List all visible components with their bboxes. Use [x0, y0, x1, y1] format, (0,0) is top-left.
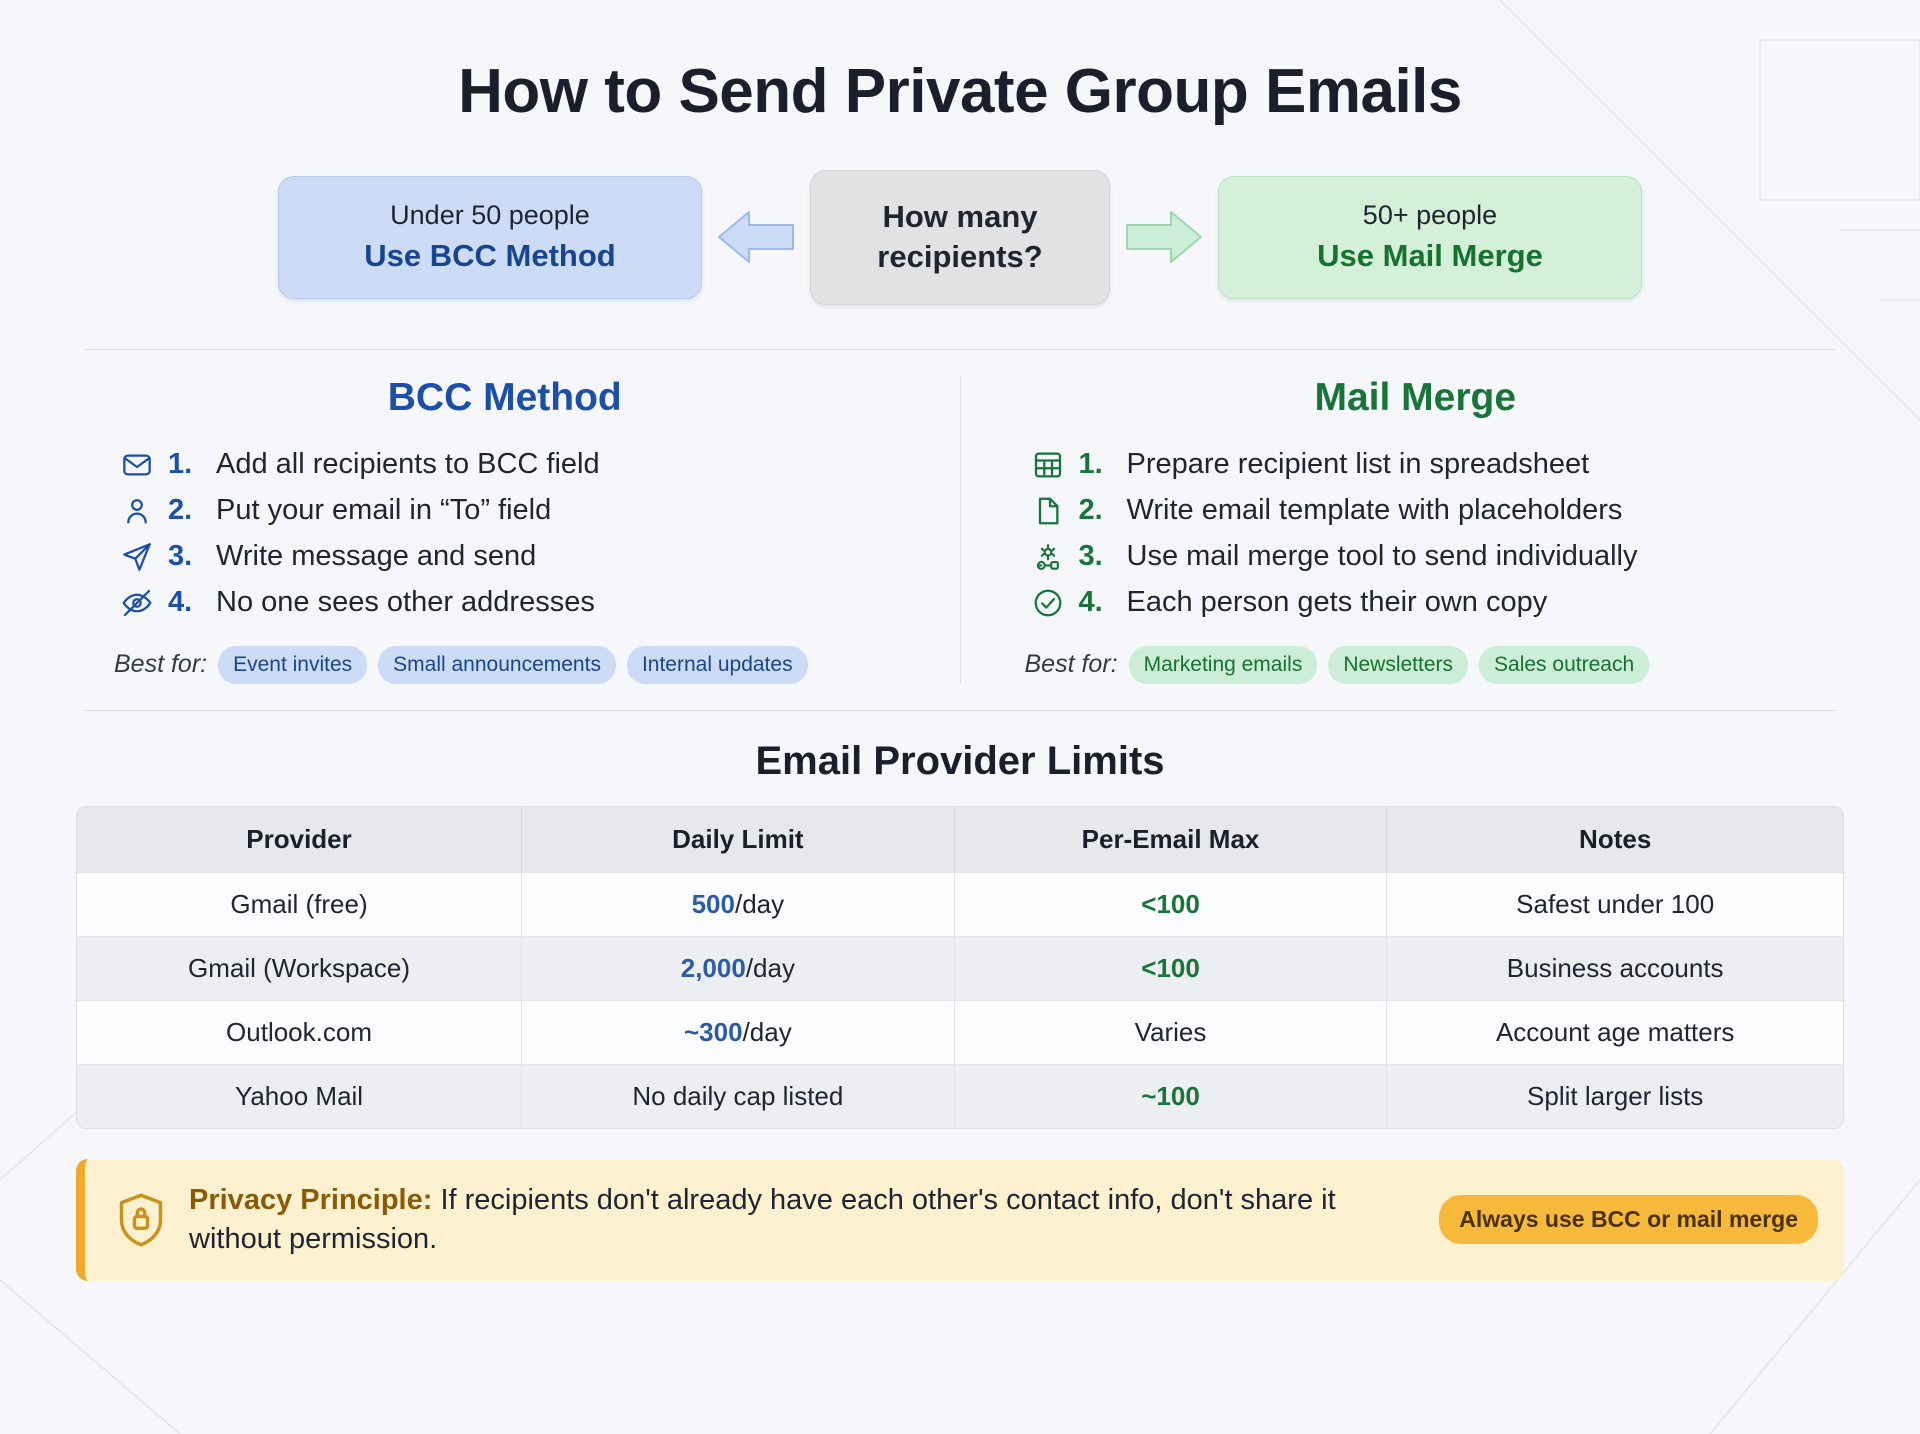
- cell-per-email-max: ~100: [955, 1064, 1388, 1128]
- cell-notes: Account age matters: [1387, 1000, 1843, 1064]
- decision-box-mailmerge[interactable]: 50+ people Use Mail Merge: [1218, 176, 1642, 299]
- method-title-mailmerge: Mail Merge: [997, 376, 1835, 420]
- shield-lock-icon: [115, 1191, 167, 1249]
- cell-daily-limit: No daily cap listed: [522, 1064, 955, 1128]
- table-title: Email Provider Limits: [76, 739, 1844, 784]
- methods-section: BCC Method 1. Add all recipients to BCC …: [76, 376, 1844, 684]
- send-icon: [120, 540, 154, 574]
- document-icon: [1031, 494, 1065, 528]
- method-title-bcc: BCC Method: [86, 376, 924, 420]
- cell-per-email-max: Varies: [955, 1000, 1388, 1064]
- bestfor-chip[interactable]: Small announcements: [378, 646, 616, 684]
- method-column-bcc: BCC Method 1. Add all recipients to BCC …: [76, 376, 960, 684]
- column-header-per-email-max: Per-Email Max: [955, 807, 1388, 872]
- decision-flow: Under 50 people Use BCC Method How many …: [76, 170, 1844, 305]
- bestfor-chip[interactable]: Marketing emails: [1129, 646, 1318, 684]
- eye-off-icon: [120, 586, 154, 620]
- step-item: 2. Put your email in “To” field: [120, 488, 924, 534]
- per-email-max-value: ~100: [1141, 1081, 1200, 1111]
- cell-provider: Outlook.com: [77, 1000, 522, 1064]
- step-text: No one sees other addresses: [216, 586, 595, 619]
- bestfor-chip[interactable]: Internal updates: [627, 646, 808, 684]
- step-text: Write email template with placeholders: [1127, 494, 1623, 527]
- decision-bcc-action: Use BCC Method: [307, 237, 673, 276]
- bestfor-chip[interactable]: Sales outreach: [1479, 646, 1649, 684]
- step-item: 1. Prepare recipient list in spreadsheet: [1031, 442, 1835, 488]
- step-item: 2. Write email template with placeholder…: [1031, 488, 1835, 534]
- arrow-right-icon: [1110, 206, 1218, 268]
- step-text: Each person gets their own copy: [1127, 586, 1548, 619]
- provider-limits-table: Provider Daily Limit Per-Email Max Notes…: [76, 806, 1844, 1129]
- steps-list-mailmerge: 1. Prepare recipient list in spreadsheet…: [997, 442, 1835, 626]
- daily-limit-value: ~300: [684, 1017, 743, 1047]
- decision-bcc-condition: Under 50 people: [307, 199, 673, 233]
- table-row: Yahoo Mail No daily cap listed ~100 Spli…: [77, 1064, 1843, 1128]
- daily-limit-value: No daily cap listed: [632, 1081, 843, 1111]
- arrow-left-icon: [702, 206, 810, 268]
- per-email-max-value: <100: [1141, 953, 1200, 983]
- decision-question-line1: How many: [831, 197, 1089, 237]
- table-row: Gmail (Workspace) 2,000/day <100 Busines…: [77, 936, 1843, 1000]
- cell-provider: Gmail (free): [77, 872, 522, 936]
- steps-list-bcc: 1. Add all recipients to BCC field 2. Pu…: [86, 442, 924, 626]
- step-number: 3.: [1079, 540, 1113, 573]
- step-number: 1.: [1079, 448, 1113, 481]
- person-icon: [120, 494, 154, 528]
- bestfor-label: Best for:: [1025, 650, 1118, 679]
- cell-per-email-max: <100: [955, 936, 1388, 1000]
- method-column-mailmerge: Mail Merge 1. Prepare recipient list in …: [960, 376, 1845, 684]
- step-item: 4. Each person gets their own copy: [1031, 580, 1835, 626]
- step-text: Put your email in “To” field: [216, 494, 551, 527]
- daily-limit-suffix: /day: [746, 953, 795, 983]
- step-item: 3. Write message and send: [120, 534, 924, 580]
- step-item: 3. Use mail merge tool to send individua…: [1031, 534, 1835, 580]
- daily-limit-value: 500: [692, 889, 735, 919]
- step-item: 1. Add all recipients to BCC field: [120, 442, 924, 488]
- column-header-daily-limit: Daily Limit: [522, 807, 955, 872]
- table-header-row: Provider Daily Limit Per-Email Max Notes: [77, 807, 1843, 872]
- daily-limit-suffix: /day: [743, 1017, 792, 1047]
- decision-box-bcc[interactable]: Under 50 people Use BCC Method: [278, 176, 702, 299]
- bestfor-row-bcc: Best for: Event invites Small announceme…: [114, 646, 924, 684]
- divider-middle: [84, 710, 1836, 711]
- bestfor-chip[interactable]: Event invites: [218, 646, 367, 684]
- cell-provider: Yahoo Mail: [77, 1064, 522, 1128]
- daily-limit-value: 2,000: [681, 953, 746, 983]
- step-text: Add all recipients to BCC field: [216, 448, 600, 481]
- divider-top: [84, 349, 1836, 350]
- decision-box-question[interactable]: How many recipients?: [810, 170, 1110, 305]
- decision-mm-action: Use Mail Merge: [1247, 237, 1613, 276]
- cell-daily-limit: 500/day: [522, 872, 955, 936]
- column-header-notes: Notes: [1387, 807, 1843, 872]
- step-text: Write message and send: [216, 540, 536, 573]
- step-number: 1.: [168, 448, 202, 481]
- step-number: 4.: [168, 586, 202, 619]
- step-item: 4. No one sees other addresses: [120, 580, 924, 626]
- page-title: How to Send Private Group Emails: [76, 0, 1844, 126]
- decision-mm-condition: 50+ people: [1247, 199, 1613, 233]
- step-number: 3.: [168, 540, 202, 573]
- spreadsheet-icon: [1031, 448, 1065, 482]
- bestfor-label: Best for:: [114, 650, 207, 679]
- table-row: Gmail (free) 500/day <100 Safest under 1…: [77, 872, 1843, 936]
- step-text: Prepare recipient list in spreadsheet: [1127, 448, 1590, 481]
- cell-daily-limit: 2,000/day: [522, 936, 955, 1000]
- cell-per-email-max: <100: [955, 872, 1388, 936]
- cell-notes: Safest under 100: [1387, 872, 1843, 936]
- cell-notes: Split larger lists: [1387, 1064, 1843, 1128]
- step-text: Use mail merge tool to send individually: [1127, 540, 1638, 573]
- cell-provider: Gmail (Workspace): [77, 936, 522, 1000]
- cell-daily-limit: ~300/day: [522, 1000, 955, 1064]
- column-header-provider: Provider: [77, 807, 522, 872]
- bestfor-chip[interactable]: Newsletters: [1328, 646, 1468, 684]
- bestfor-row-mailmerge: Best for: Marketing emails Newsletters S…: [1025, 646, 1835, 684]
- envelope-icon: [120, 448, 154, 482]
- step-number: 2.: [1079, 494, 1113, 527]
- step-number: 2.: [168, 494, 202, 527]
- check-circle-icon: [1031, 586, 1065, 620]
- per-email-max-value: <100: [1141, 889, 1200, 919]
- per-email-max-value: Varies: [1135, 1017, 1207, 1047]
- privacy-banner-chip[interactable]: Always use BCC or mail merge: [1439, 1195, 1818, 1244]
- cell-notes: Business accounts: [1387, 936, 1843, 1000]
- privacy-banner: Privacy Principle: If recipients don't a…: [76, 1159, 1844, 1281]
- privacy-banner-text: Privacy Principle: If recipients don't a…: [189, 1181, 1417, 1259]
- table-row: Outlook.com ~300/day Varies Account age …: [77, 1000, 1843, 1064]
- daily-limit-suffix: /day: [735, 889, 784, 919]
- gear-tool-icon: [1031, 540, 1065, 574]
- decision-question-line2: recipients?: [831, 237, 1089, 277]
- infographic-root: How to Send Private Group Emails Under 5…: [0, 0, 1920, 1434]
- step-number: 4.: [1079, 586, 1113, 619]
- privacy-banner-label: Privacy Principle:: [189, 1184, 432, 1216]
